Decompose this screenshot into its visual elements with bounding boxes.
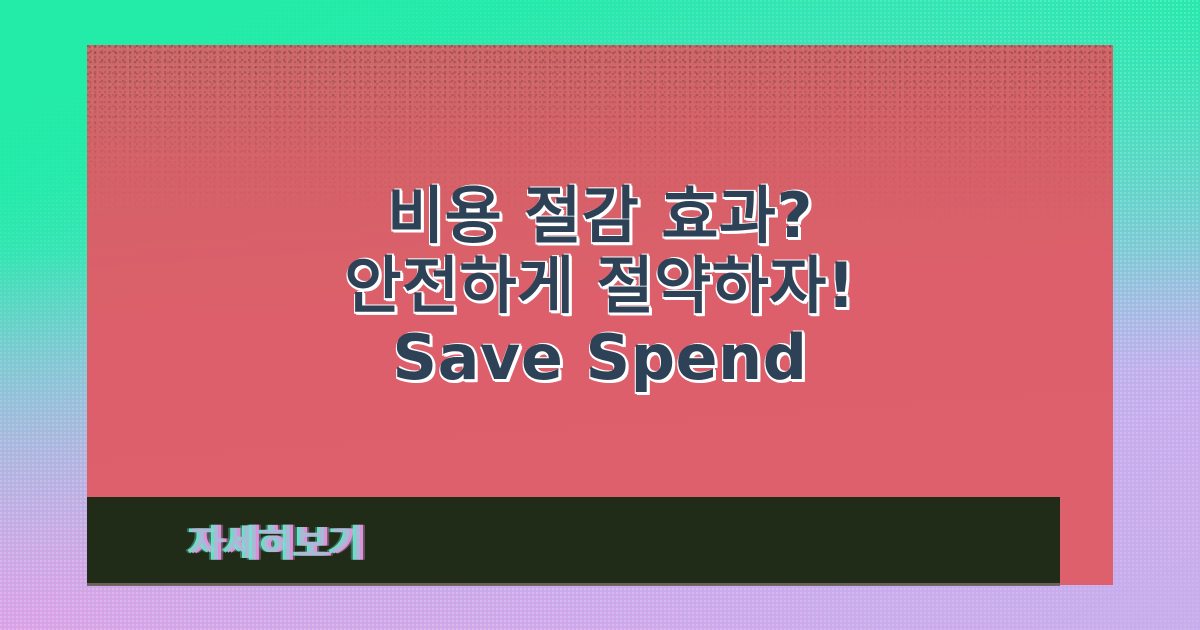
cta-label[interactable]: 자세히보기 [190, 513, 365, 567]
headline-block: 비용 절감 효과? 안전하게 절약하자! Save Spend [0, 185, 1200, 389]
headline-line-3: Save Spend [0, 325, 1200, 389]
headline-line-2: 안전하게 절약하자! [0, 255, 1200, 325]
thumbnail-stage: 비용 절감 효과? 안전하게 절약하자! Save Spend 자세히보기 [0, 0, 1200, 630]
headline-line-1: 비용 절감 효과? [0, 185, 1200, 255]
cta-bar[interactable]: 자세히보기 [87, 497, 1060, 583]
